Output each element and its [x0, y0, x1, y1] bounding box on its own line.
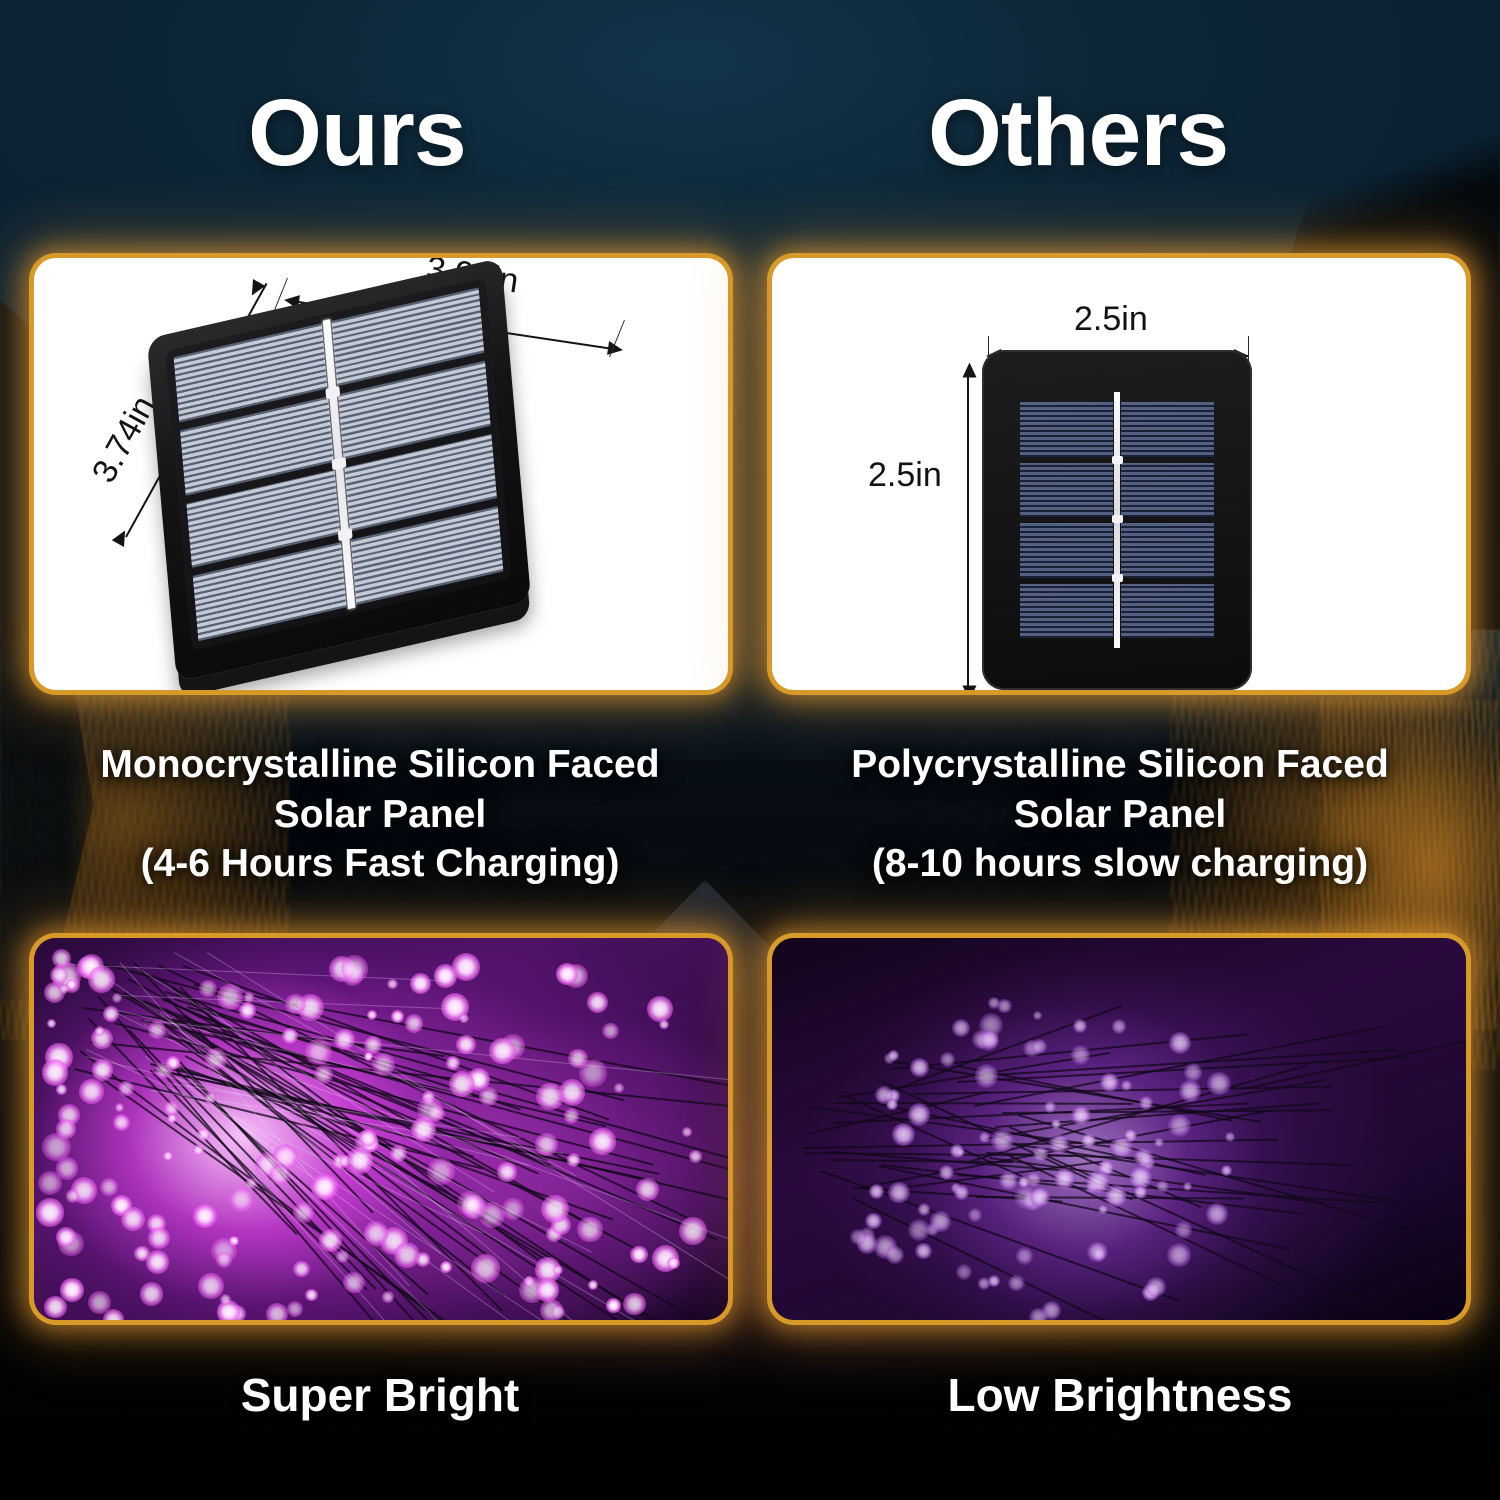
fairy-lights-dim-image	[772, 938, 1466, 1320]
dimension-height-label-others: 2.5in	[868, 456, 942, 495]
bottom-label-others: Low Brightness	[770, 1368, 1470, 1422]
bottom-label-ours: Super Bright	[30, 1368, 730, 1422]
heading-others: Others	[928, 86, 1228, 181]
fairy-lights-bright-image	[34, 938, 728, 1320]
dimension-width-label-others: 2.5in	[1074, 300, 1148, 339]
comparison-infographic: Ours Others 3.94in 3.74in	[0, 0, 1500, 1500]
heading-ours: Ours	[248, 86, 466, 181]
panel-card-ours: 3.94in 3.74in	[34, 258, 728, 690]
caption-ours: Monocrystalline Silicon Faced Solar Pane…	[30, 740, 730, 889]
light-photo-others	[772, 938, 1466, 1320]
panel-card-others: 2.5in 2.5in	[772, 258, 1466, 690]
solar-panel-ours-illustration	[130, 302, 650, 662]
caption-line: Solar Panel	[30, 790, 730, 840]
caption-line: Monocrystalline Silicon Faced	[30, 740, 730, 790]
caption-line: Solar Panel	[770, 790, 1470, 840]
caption-line: (8-10 hours slow charging)	[770, 839, 1470, 889]
caption-line: (4-6 Hours Fast Charging)	[30, 839, 730, 889]
caption-others: Polycrystalline Silicon Faced Solar Pane…	[770, 740, 1470, 889]
caption-line: Polycrystalline Silicon Faced	[770, 740, 1470, 790]
solar-panel-others-illustration	[982, 350, 1252, 690]
light-photo-ours	[34, 938, 728, 1320]
